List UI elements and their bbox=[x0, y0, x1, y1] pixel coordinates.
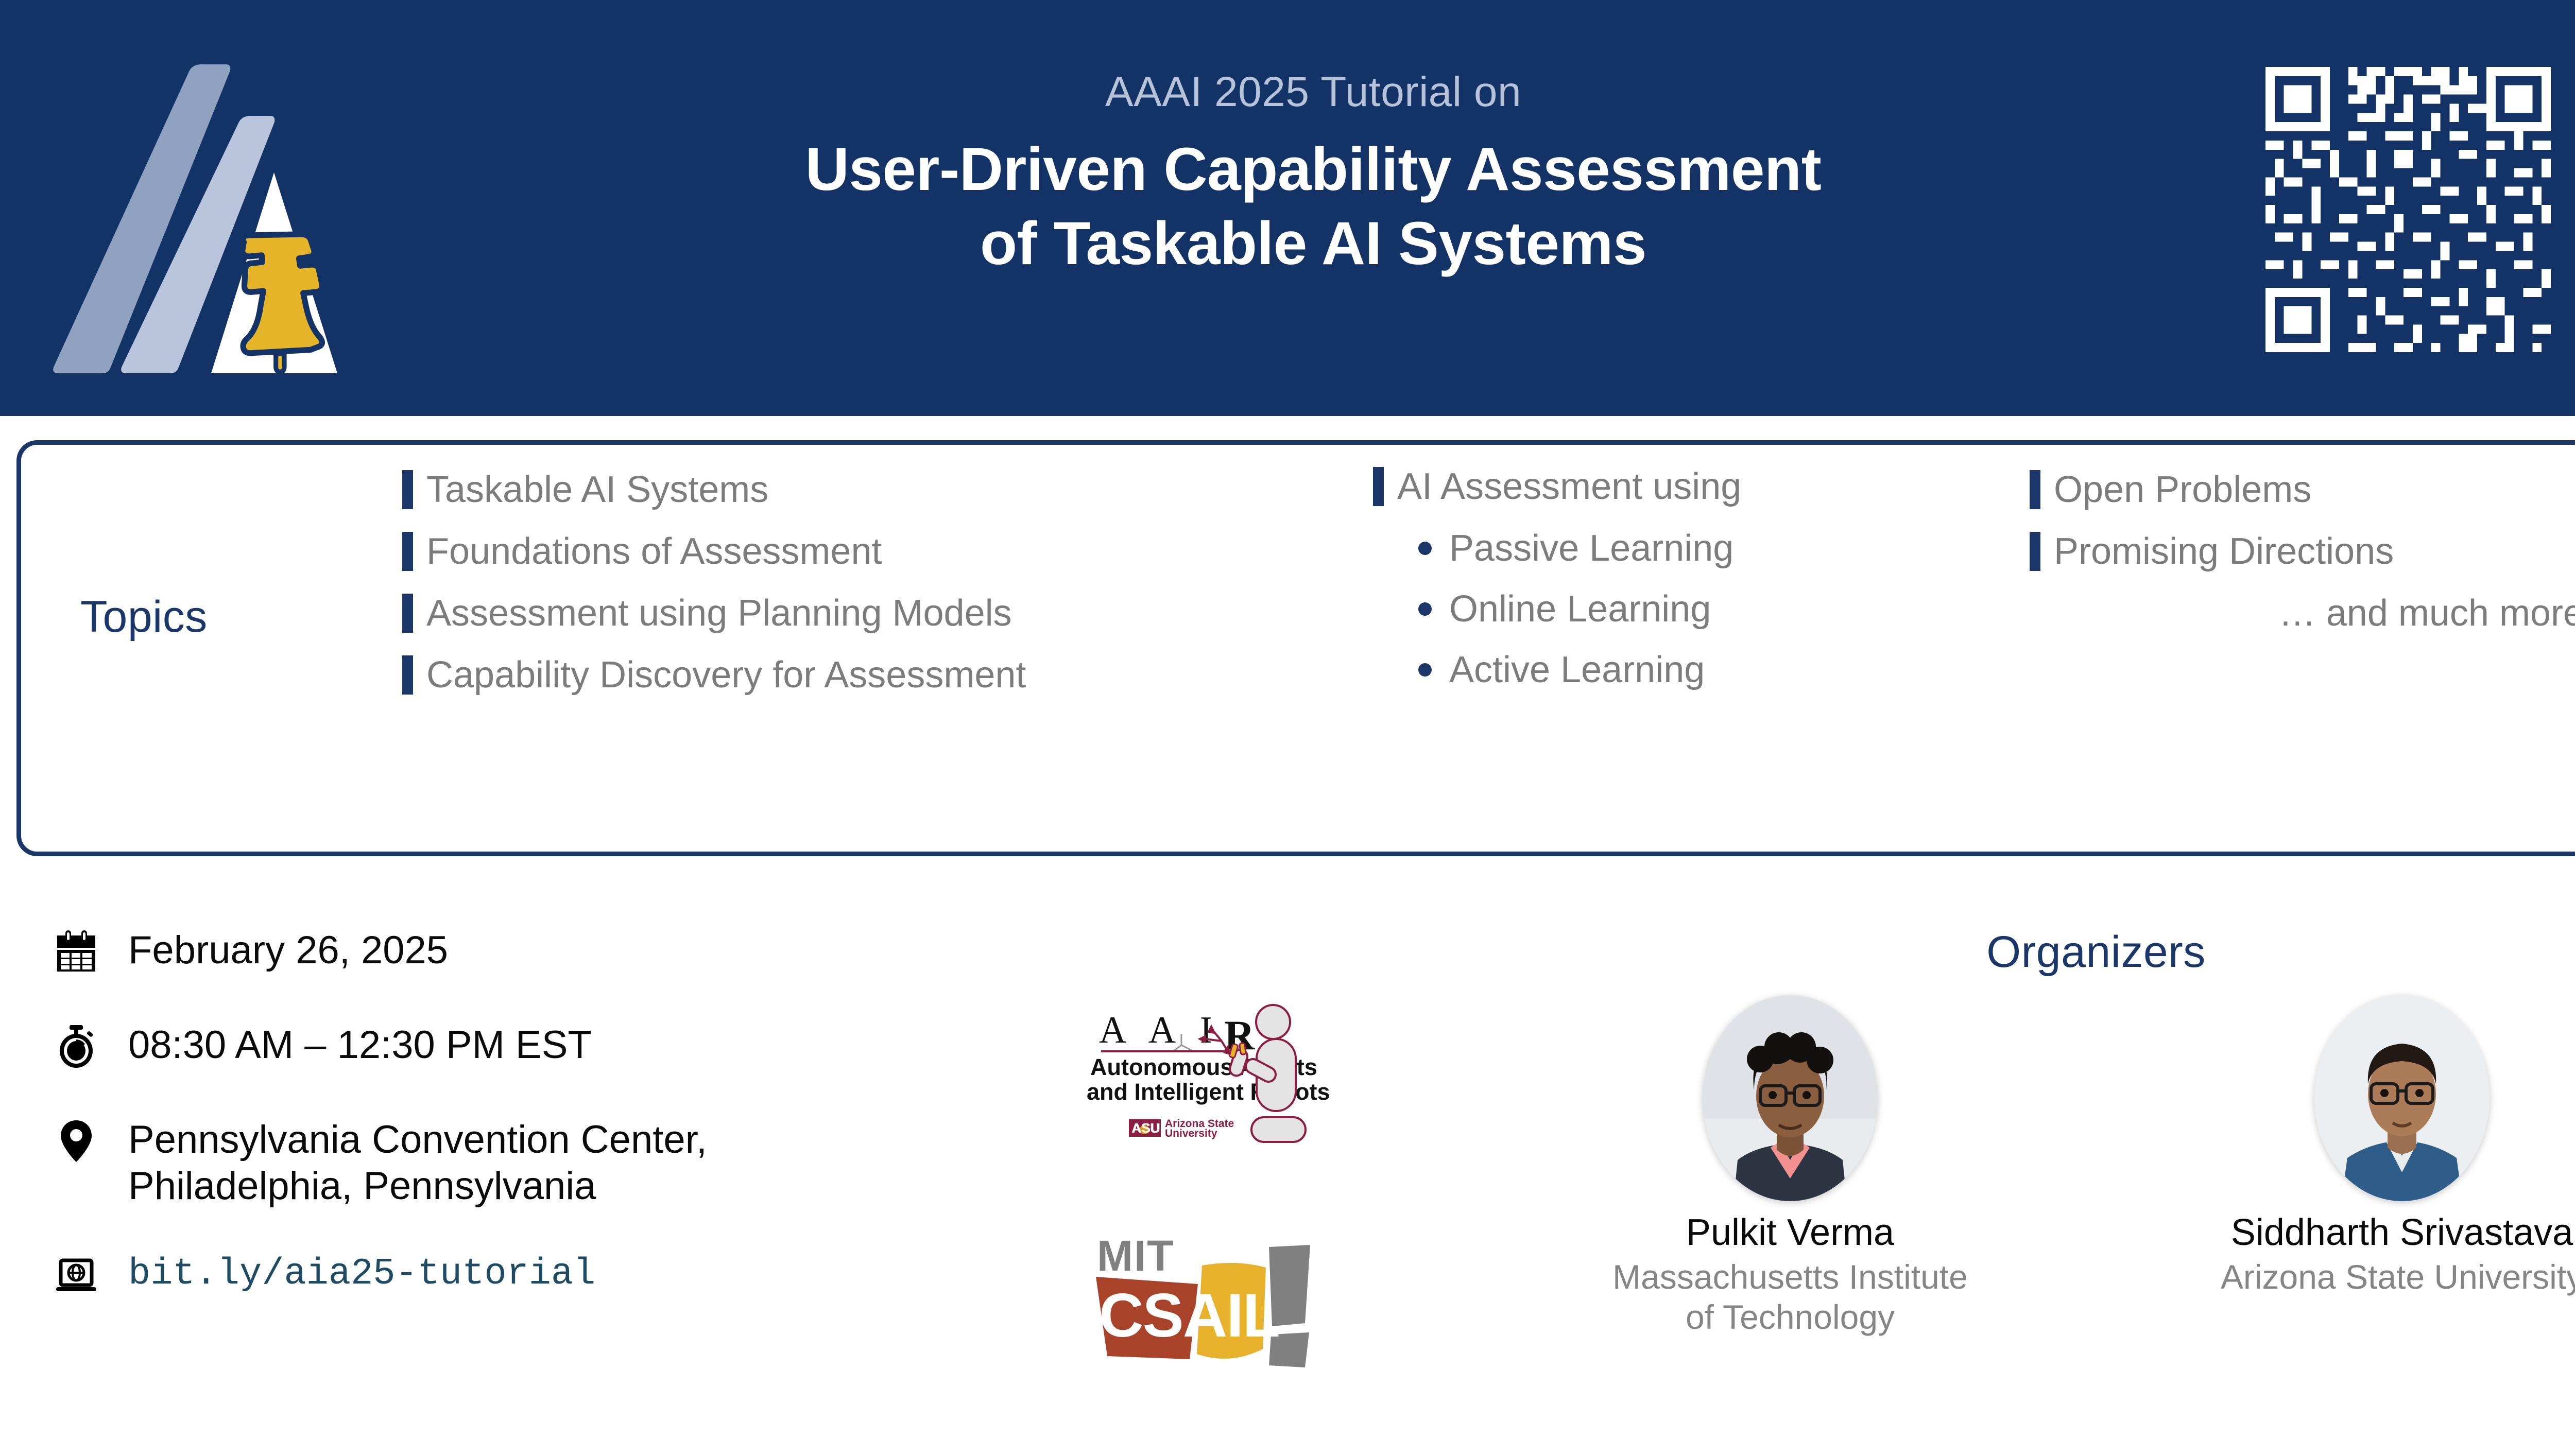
topic-item: Promising Directions bbox=[2030, 531, 2575, 571]
detail-row-venue: Pennsylvania Convention Center, Philadel… bbox=[49, 1114, 1027, 1209]
topic-subitem: Online Learning bbox=[1373, 589, 1986, 629]
organizer-affiliation: Massachusetts Institute of Technology bbox=[1594, 1257, 1986, 1338]
svg-text:University: University bbox=[1165, 1128, 1217, 1139]
topics-label: Topics bbox=[80, 592, 208, 643]
organizer-affiliation-line-1: Arizona State University bbox=[2221, 1258, 2575, 1296]
aair-lab-logo: A A I Autonomous Agents and Intelligent … bbox=[1067, 994, 1361, 1148]
header-band: AAAI 2025 Tutorial on User-Driven Capabi… bbox=[0, 0, 2575, 416]
topic-label: Open Problems bbox=[2054, 471, 2311, 508]
svg-text:A A I: A A I bbox=[1099, 1009, 1221, 1051]
organizer-card: Siddharth Srivastava Arizona State Unive… bbox=[2206, 995, 2575, 1338]
topic-item: Taskable AI Systems bbox=[402, 470, 1345, 510]
svg-text:CSAIL: CSAIL bbox=[1099, 1281, 1279, 1350]
aaai-liberty-bell-logo bbox=[49, 64, 342, 373]
topic-label: Taskable AI Systems bbox=[426, 471, 768, 508]
topic-label: Foundations of Assessment bbox=[426, 533, 882, 570]
tutorial-url-link[interactable]: bit.ly/aia25-tutorial bbox=[128, 1249, 595, 1296]
avatar-pulkit-verma bbox=[1703, 995, 1878, 1201]
laptop-globe-icon bbox=[49, 1249, 104, 1304]
topic-label: AI Assessment using bbox=[1397, 468, 1741, 505]
tutorial-title: User-Driven Capability Assessment of Tas… bbox=[608, 133, 2019, 281]
organizer-card: Pulkit Verma Massachusetts Institute of … bbox=[1594, 995, 1986, 1338]
topics-column-1: Taskable AI Systems Foundations of Asses… bbox=[402, 470, 1345, 717]
organizers-section: Organizers bbox=[1576, 927, 2575, 1338]
topic-item: Capability Discovery for Assessment bbox=[402, 655, 1345, 695]
tutorial-title-line-2: of Taskable AI Systems bbox=[608, 207, 2019, 281]
bar-marker-icon bbox=[402, 655, 413, 695]
qr-code[interactable] bbox=[2256, 58, 2560, 361]
organizers-grid: Pulkit Verma Massachusetts Institute of … bbox=[1576, 995, 2575, 1338]
organizer-name: Pulkit Verma bbox=[1594, 1212, 1986, 1253]
bar-marker-icon bbox=[2030, 470, 2040, 509]
detail-venue-line-2: Philadelphia, Pennsylvania bbox=[128, 1164, 596, 1208]
svg-text:MIT: MIT bbox=[1097, 1232, 1175, 1280]
mit-csail-logo: MIT CSAIL bbox=[1067, 1230, 1345, 1400]
bar-marker-icon bbox=[2030, 532, 2040, 571]
topic-label: Assessment using Planning Models bbox=[426, 595, 1012, 632]
tutorial-kicker: AAAI 2025 Tutorial on bbox=[608, 67, 2019, 117]
organizer-name: Siddharth Srivastava bbox=[2206, 1212, 2575, 1253]
dot-bullet-icon bbox=[1418, 542, 1432, 555]
event-details: February 26, 2025 08:30 AM – 12:30 PM ES… bbox=[49, 924, 1027, 1344]
detail-row-time: 08:30 AM – 12:30 PM EST bbox=[49, 1019, 1027, 1073]
bar-marker-icon bbox=[402, 532, 413, 571]
topic-subitem-label: Online Learning bbox=[1449, 591, 1711, 628]
bar-marker-icon bbox=[402, 470, 413, 509]
topic-tail-label: … and much more bbox=[2279, 595, 2575, 632]
stopwatch-icon bbox=[49, 1019, 104, 1073]
topic-item: Assessment using Planning Models bbox=[402, 593, 1345, 633]
calendar-icon bbox=[49, 924, 104, 979]
detail-row-date: February 26, 2025 bbox=[49, 924, 1027, 979]
detail-row-url[interactable]: bit.ly/aia25-tutorial bbox=[49, 1249, 1027, 1304]
tutorial-title-line-1: User-Driven Capability Assessment bbox=[608, 133, 2019, 207]
topic-subitem-label: Active Learning bbox=[1449, 651, 1705, 688]
topic-subitem: Active Learning bbox=[1373, 650, 1986, 690]
topic-item: Open Problems bbox=[2030, 470, 2575, 510]
organizer-affiliation: Arizona State University bbox=[2206, 1257, 2575, 1297]
bar-marker-icon bbox=[1373, 467, 1384, 506]
topics-column-3: Open Problems Promising Directions … and… bbox=[2030, 470, 2575, 633]
topic-item: Foundations of Assessment bbox=[402, 531, 1345, 571]
topics-card: Topics Taskable AI Systems Foundations o… bbox=[16, 440, 2575, 856]
dot-bullet-icon bbox=[1418, 663, 1432, 677]
detail-time-text: 08:30 AM – 12:30 PM EST bbox=[128, 1019, 592, 1068]
detail-venue-text: Pennsylvania Convention Center, Philadel… bbox=[128, 1114, 707, 1209]
header-text-block: AAAI 2025 Tutorial on User-Driven Capabi… bbox=[608, 67, 2019, 281]
tutorial-poster: AAAI 2025 Tutorial on User-Driven Capabi… bbox=[0, 0, 2575, 1456]
detail-date-text: February 26, 2025 bbox=[128, 924, 448, 974]
topic-subitem: Passive Learning bbox=[1373, 528, 1986, 568]
location-pin-icon bbox=[49, 1114, 104, 1168]
topics-column-2: AI Assessment using Passive Learning Onl… bbox=[1373, 466, 1986, 710]
topic-item: AI Assessment using bbox=[1373, 466, 1986, 507]
topic-label: Promising Directions bbox=[2054, 533, 2394, 570]
avatar-siddharth-srivastava bbox=[2314, 995, 2490, 1201]
topic-subitem-label: Passive Learning bbox=[1449, 530, 1733, 567]
svg-text:ASU: ASU bbox=[1132, 1120, 1160, 1136]
detail-venue-line-1: Pennsylvania Convention Center, bbox=[128, 1118, 707, 1162]
bar-marker-icon bbox=[402, 594, 413, 633]
organizer-affiliation-line-1: Massachusetts Institute bbox=[1612, 1258, 1968, 1296]
organizer-affiliation-line-2: of Technology bbox=[1686, 1298, 1895, 1336]
topic-label: Capability Discovery for Assessment bbox=[426, 656, 1026, 694]
topic-tail: … and much more bbox=[2030, 593, 2575, 633]
dot-bullet-icon bbox=[1418, 602, 1432, 616]
organizers-title: Organizers bbox=[1576, 927, 2575, 978]
